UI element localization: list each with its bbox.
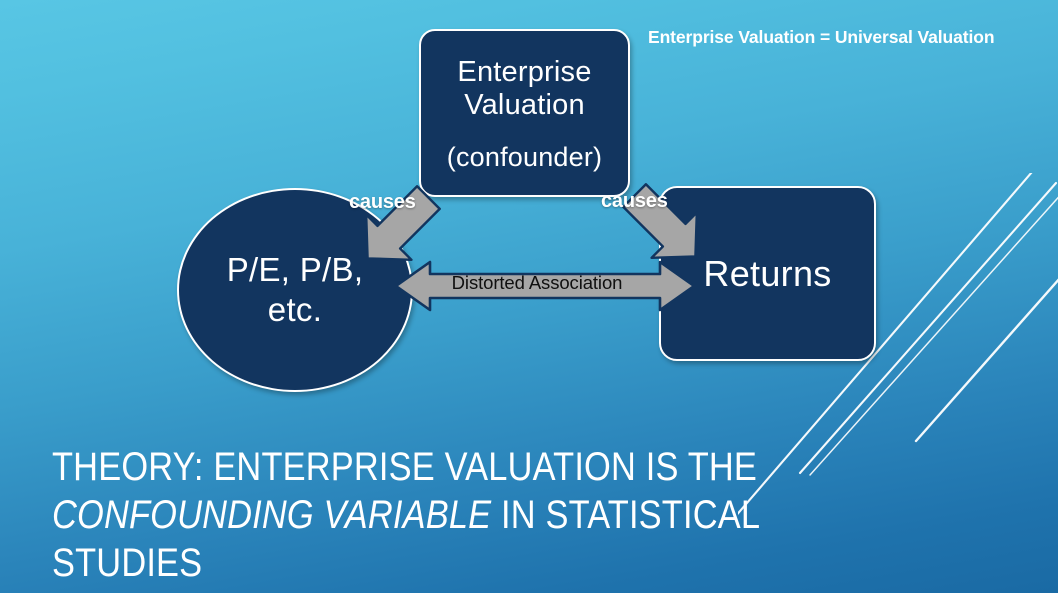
slide-canvas: Enterprise Valuation = Universal Valuati…	[0, 0, 1058, 593]
node-ratios-line2: etc.	[268, 290, 322, 330]
arrow-causes-left-label: causes	[349, 191, 416, 214]
slide-title-emphasis: CONFOUNDING VARIABLE	[52, 493, 491, 537]
arrow-causes-right-label: causes	[601, 190, 668, 213]
node-enterprise-line2: Valuation	[464, 89, 585, 122]
node-valuation-ratios[interactable]: P/E, P/B, etc.	[177, 188, 413, 392]
node-ratios-line1: P/E, P/B,	[227, 250, 364, 290]
arrow-distorted-association-label: Distorted Association	[430, 272, 644, 294]
slide-title: THEORY: ENTERPRISE VALUATION IS THE CONF…	[52, 443, 809, 587]
node-enterprise-valuation-confounder[interactable]: Enterprise Valuation (confounder)	[419, 29, 630, 197]
node-returns-label: Returns	[703, 253, 831, 295]
node-enterprise-line1: Enterprise	[457, 56, 591, 89]
node-returns[interactable]: Returns	[659, 186, 876, 361]
slide-title-part1: THEORY: ENTERPRISE VALUATION IS THE	[52, 445, 757, 489]
node-enterprise-line3: (confounder)	[447, 143, 603, 173]
caption-enterprise-equals-universal: Enterprise Valuation = Universal Valuati…	[648, 27, 1058, 48]
